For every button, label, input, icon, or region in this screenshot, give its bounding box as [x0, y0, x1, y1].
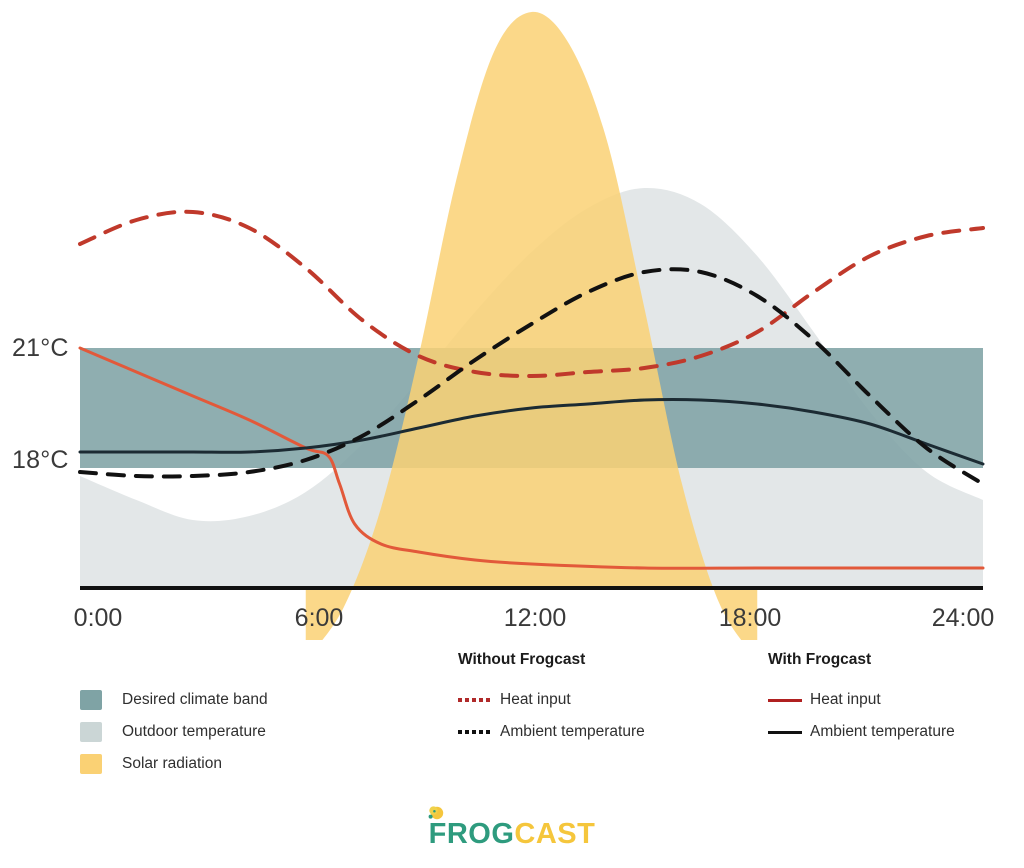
dotted-black-line-icon — [458, 730, 500, 734]
legend-item-with-heat-input: Heat input — [768, 684, 955, 716]
legend-label: Outdoor temperature — [122, 723, 266, 741]
x-tick-3: 18:00 — [719, 604, 782, 633]
legend-group-with-frogcast: With Frogcast Heat input Ambient tempera… — [768, 652, 955, 748]
x-tick-2: 12:00 — [504, 604, 567, 633]
legend-label: Solar radiation — [122, 755, 222, 773]
legend-label: Heat input — [810, 691, 881, 709]
legend-group-areas: . Desired climate band Outdoor temperatu… — [80, 652, 268, 780]
x-tick-4: 24:00 — [932, 604, 995, 633]
legend-item-outdoor-temperature: Outdoor temperature — [80, 716, 268, 748]
legend-label: Heat input — [500, 691, 571, 709]
legend-item-solar-radiation: Solar radiation — [80, 748, 268, 780]
x-tick-0: 0:00 — [74, 604, 123, 633]
legend-item-without-heat-input: Heat input — [458, 684, 645, 716]
solid-red-line-icon — [768, 699, 810, 702]
frogcast-climate-chart: 21°C 18°C 0:00 6:00 12:00 18:00 24:00 . … — [0, 0, 1024, 868]
legend-label: Ambient temperature — [810, 723, 955, 741]
legend-with-frogcast-title: With Frogcast — [768, 652, 955, 668]
frog-sun-icon — [425, 805, 447, 827]
logo-text-cast: CAST — [514, 818, 595, 851]
legend-label: Desired climate band — [122, 691, 268, 709]
legend-item-without-ambient-temperature: Ambient temperature — [458, 716, 645, 748]
outdoor-temperature-swatch-icon — [80, 722, 122, 742]
legend-without-frogcast-title: Without Frogcast — [458, 652, 645, 668]
legend-label: Ambient temperature — [500, 723, 645, 741]
solar-radiation-swatch-icon — [80, 754, 122, 774]
legend-group-without-frogcast: Without Frogcast Heat input Ambient temp… — [458, 652, 645, 748]
brand-logo: FROG CAST — [0, 818, 1024, 858]
legend-item-desired-climate-band: Desired climate band — [80, 684, 268, 716]
legend: . Desired climate band Outdoor temperatu… — [0, 652, 1024, 772]
dotted-red-line-icon — [458, 698, 500, 702]
solid-black-line-icon — [768, 731, 810, 734]
x-tick-1: 6:00 — [295, 604, 344, 633]
y-tick-18: 18°C — [12, 446, 69, 475]
plot-svg — [0, 0, 1024, 640]
y-tick-21: 21°C — [12, 334, 69, 363]
plot-area: 21°C 18°C 0:00 6:00 12:00 18:00 24:00 — [0, 0, 1024, 640]
legend-item-with-ambient-temperature: Ambient temperature — [768, 716, 955, 748]
climate-band-swatch-icon — [80, 690, 122, 710]
